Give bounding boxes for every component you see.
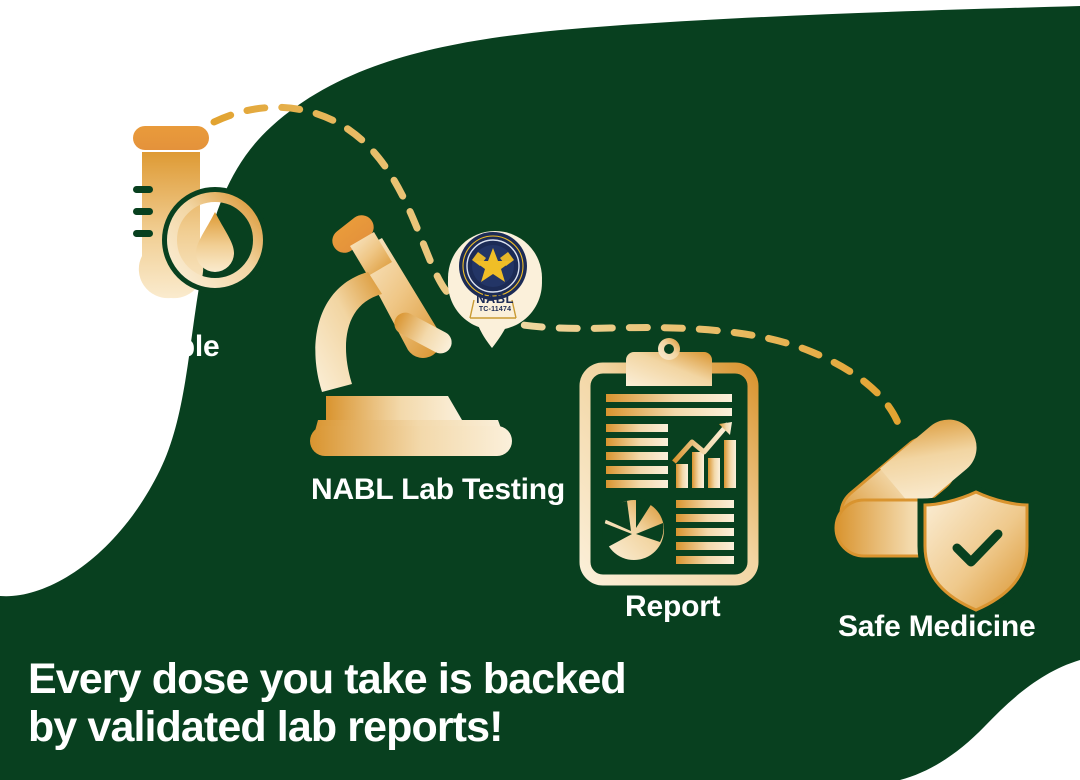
nabl-accreditation-seal [448, 231, 542, 348]
droplet-icon [196, 212, 234, 272]
report-left-text-lines [606, 424, 668, 488]
clipboard-clip-hole [664, 344, 674, 354]
headline: Every dose you take is backed by validat… [28, 655, 626, 751]
infographic-canvas: NABL TC-11474 Sample NABL Lab Testing Re… [0, 0, 1080, 780]
clipboard-report-icon [585, 338, 753, 580]
dashed-flow-path [214, 107, 900, 428]
microscope-base-icon [310, 426, 512, 456]
step-label-sample: Sample [114, 330, 220, 364]
step-label-report: Report [625, 590, 720, 624]
test-tube-cap-icon [133, 126, 209, 150]
report-pie-chart-icon [602, 498, 664, 560]
capsules-with-shield-icon [829, 408, 1030, 614]
microscope-arm-icon [315, 272, 382, 392]
test-tube-with-droplet-icon [133, 126, 263, 298]
headline-line-2: by validated lab reports! [28, 703, 626, 751]
step-label-lab-testing: NABL Lab Testing [311, 473, 565, 507]
report-header-lines [606, 394, 732, 416]
badge-title: NABL [455, 292, 535, 305]
badge-certificate-number: TC-11474 [455, 306, 535, 313]
badge-wordmark: NABL TC-11474 [455, 292, 535, 313]
report-bottom-text-lines [676, 500, 734, 564]
headline-line-1: Every dose you take is backed [28, 655, 626, 703]
step-label-safe-medicine: Safe Medicine [838, 610, 1035, 644]
